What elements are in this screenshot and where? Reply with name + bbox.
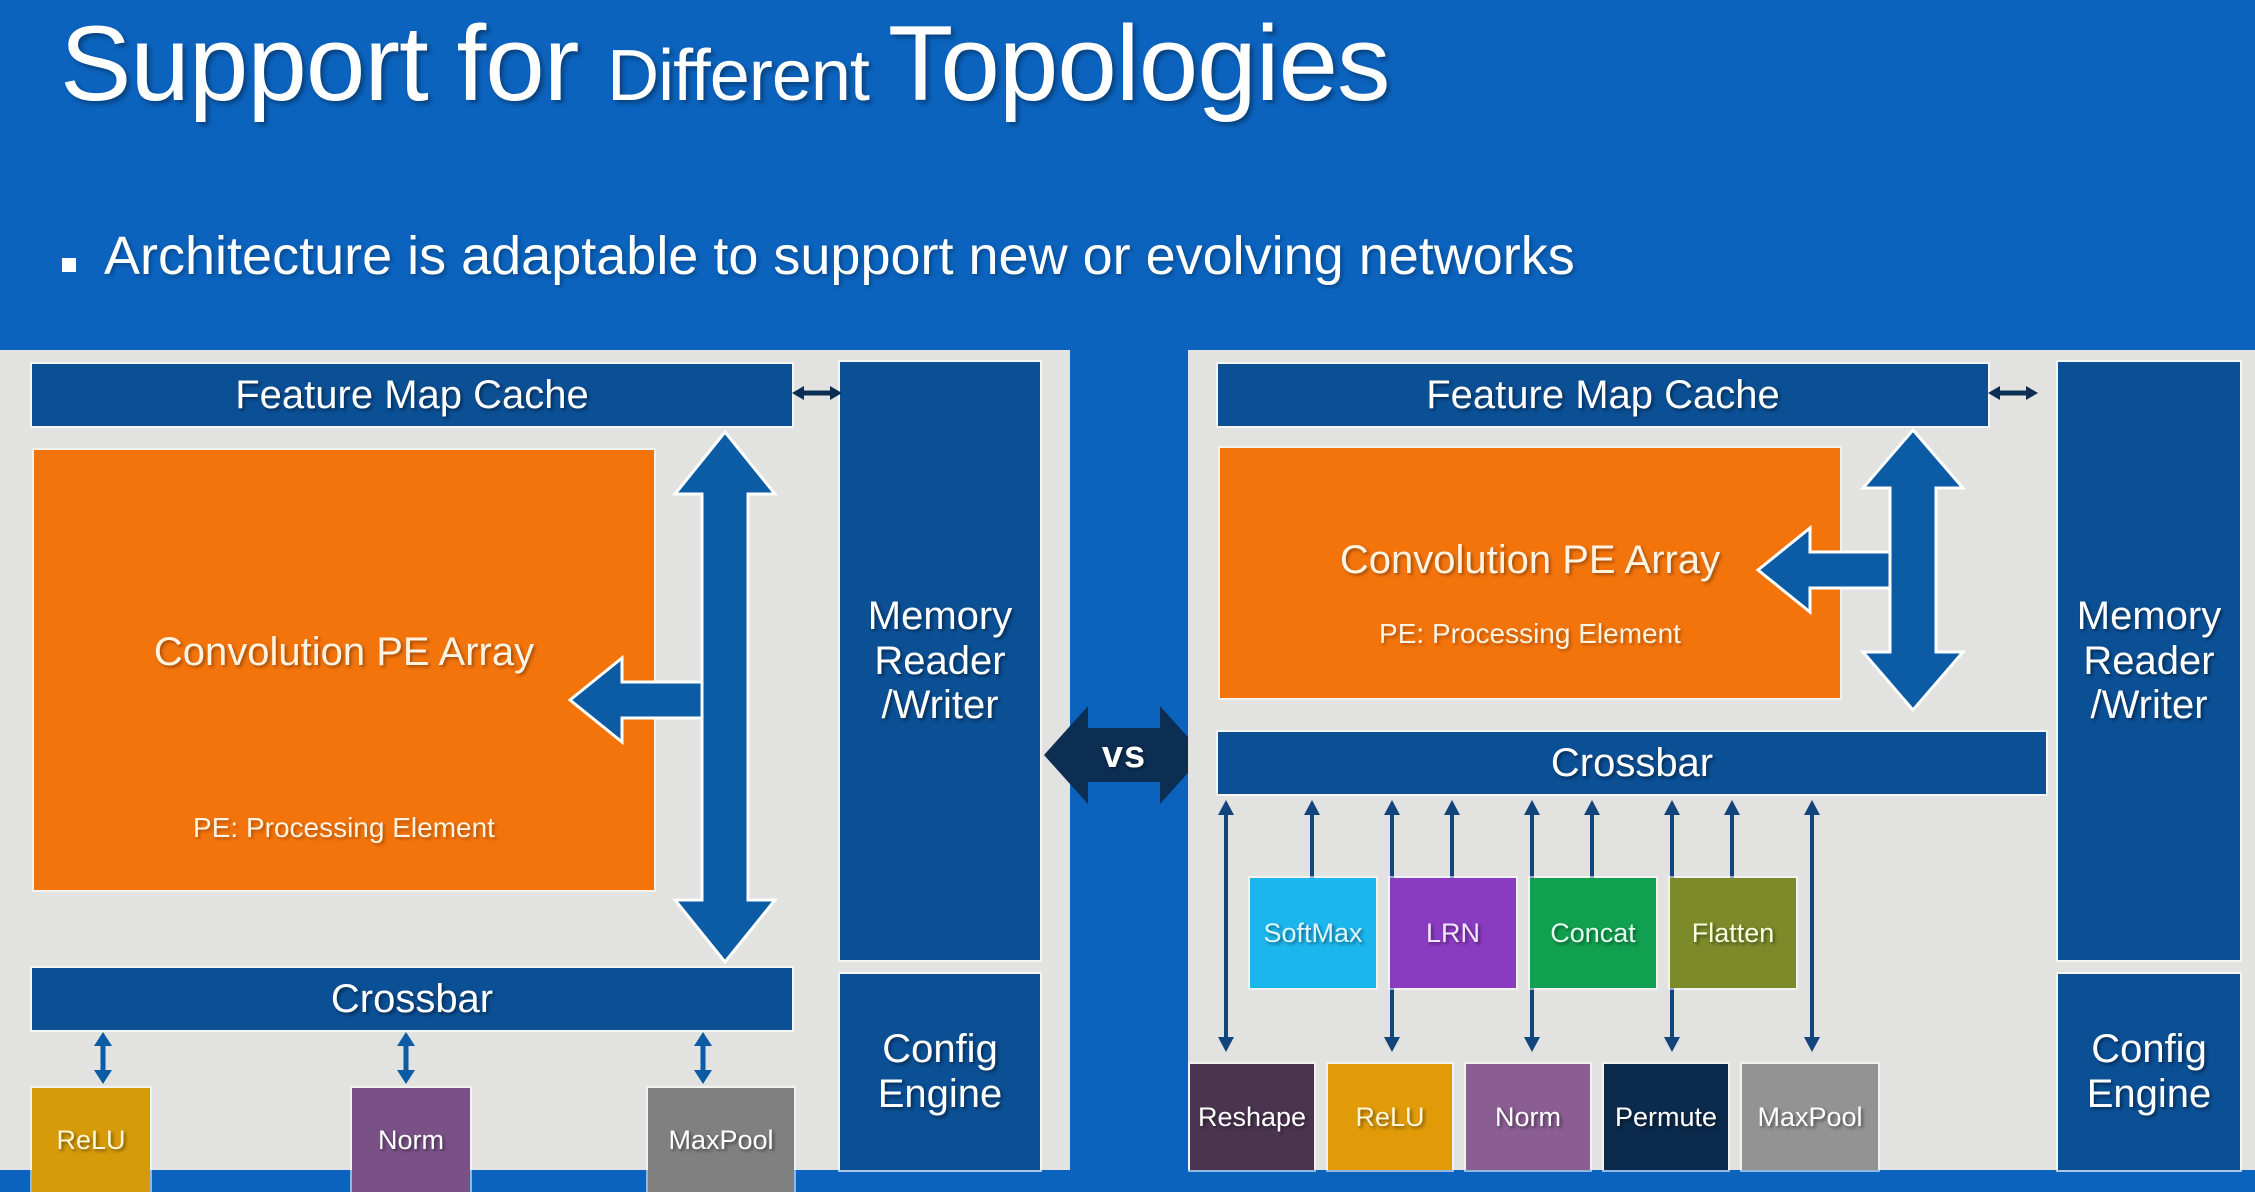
page-title: Support for Different Topologies (60, 10, 1390, 117)
left-memory-reader-writer: Memory Reader /Writer (840, 362, 1040, 960)
right-op-relu: ReLU (1328, 1064, 1452, 1170)
left-config-line-1: Config (882, 1027, 998, 1072)
left-crossbar-norm-arrow-icon (393, 1032, 419, 1084)
right-architecture-panel: Feature Map Cache Convolution PE Array P… (1188, 350, 2255, 1170)
page-title-part3: Topologies (888, 3, 1390, 123)
left-crossbar: Crossbar (32, 968, 792, 1030)
page-title-part2: Different (607, 36, 888, 116)
left-op-relu: ReLU (32, 1088, 150, 1192)
right-config-engine: Config Engine (2058, 974, 2240, 1170)
right-mrw-line-3: /Writer (2090, 683, 2207, 728)
right-crossbar-maxpool-arrow-icon (1800, 800, 1824, 1052)
right-op-lrn: LRN (1390, 878, 1516, 988)
mrw-line-2: Reader (874, 639, 1005, 684)
mrw-line-1: Memory (868, 594, 1012, 639)
left-op-norm: Norm (352, 1088, 470, 1192)
mrw-line-3: /Writer (881, 683, 998, 728)
right-op-maxpool: MaxPool (1742, 1064, 1878, 1170)
right-config-line-1: Config (2091, 1027, 2207, 1072)
right-pe-array-title: Convolution PE Array (1220, 538, 1840, 583)
right-op-reshape: Reshape (1190, 1064, 1314, 1170)
right-op-norm: Norm (1466, 1064, 1590, 1170)
right-cache-memory-arrow-icon (1988, 378, 2038, 408)
right-op-softmax: SoftMax (1250, 878, 1376, 988)
bullet-row: Architecture is adaptable to support new… (62, 225, 1575, 287)
left-config-engine: Config Engine (840, 974, 1040, 1170)
left-pe-array-subtitle: PE: Processing Element (34, 812, 654, 844)
right-mrw-line-2: Reader (2083, 639, 2214, 684)
left-crossbar-relu-arrow-icon (90, 1032, 116, 1084)
right-convolution-pe-array: Convolution PE Array PE: Processing Elem… (1220, 448, 1840, 698)
left-cache-memory-arrow-icon (792, 378, 842, 408)
left-crossbar-maxpool-arrow-icon (690, 1032, 716, 1084)
right-mrw-line-1: Memory (2077, 594, 2221, 639)
right-feature-map-cache: Feature Map Cache (1218, 364, 1988, 426)
comparison-vs-marker: vs (1044, 700, 1204, 810)
right-crossbar: Crossbar (1218, 732, 2046, 794)
right-config-line-2: Engine (2087, 1072, 2212, 1117)
right-op-concat: Concat (1530, 878, 1656, 988)
right-memory-reader-writer: Memory Reader /Writer (2058, 362, 2240, 960)
left-architecture-panel: Feature Map Cache Convolution PE Array P… (0, 350, 1070, 1170)
right-pe-array-subtitle: PE: Processing Element (1220, 618, 1840, 650)
left-feature-map-cache: Feature Map Cache (32, 364, 792, 426)
right-crossbar-reshape-arrow-icon (1214, 800, 1238, 1052)
bullet-text: Architecture is adaptable to support new… (104, 225, 1575, 287)
square-bullet-icon (62, 258, 76, 272)
left-config-line-2: Engine (878, 1072, 1003, 1117)
left-pe-array-title: Convolution PE Array (34, 630, 654, 675)
page-title-part1: Support for (60, 3, 607, 123)
left-convolution-pe-array: Convolution PE Array PE: Processing Elem… (34, 450, 654, 890)
right-op-flatten: Flatten (1670, 878, 1796, 988)
vs-label: vs (1044, 700, 1204, 810)
left-op-maxpool: MaxPool (648, 1088, 794, 1192)
right-op-permute: Permute (1604, 1064, 1728, 1170)
slide-header: Support for Different Topologies Archite… (0, 0, 2255, 350)
